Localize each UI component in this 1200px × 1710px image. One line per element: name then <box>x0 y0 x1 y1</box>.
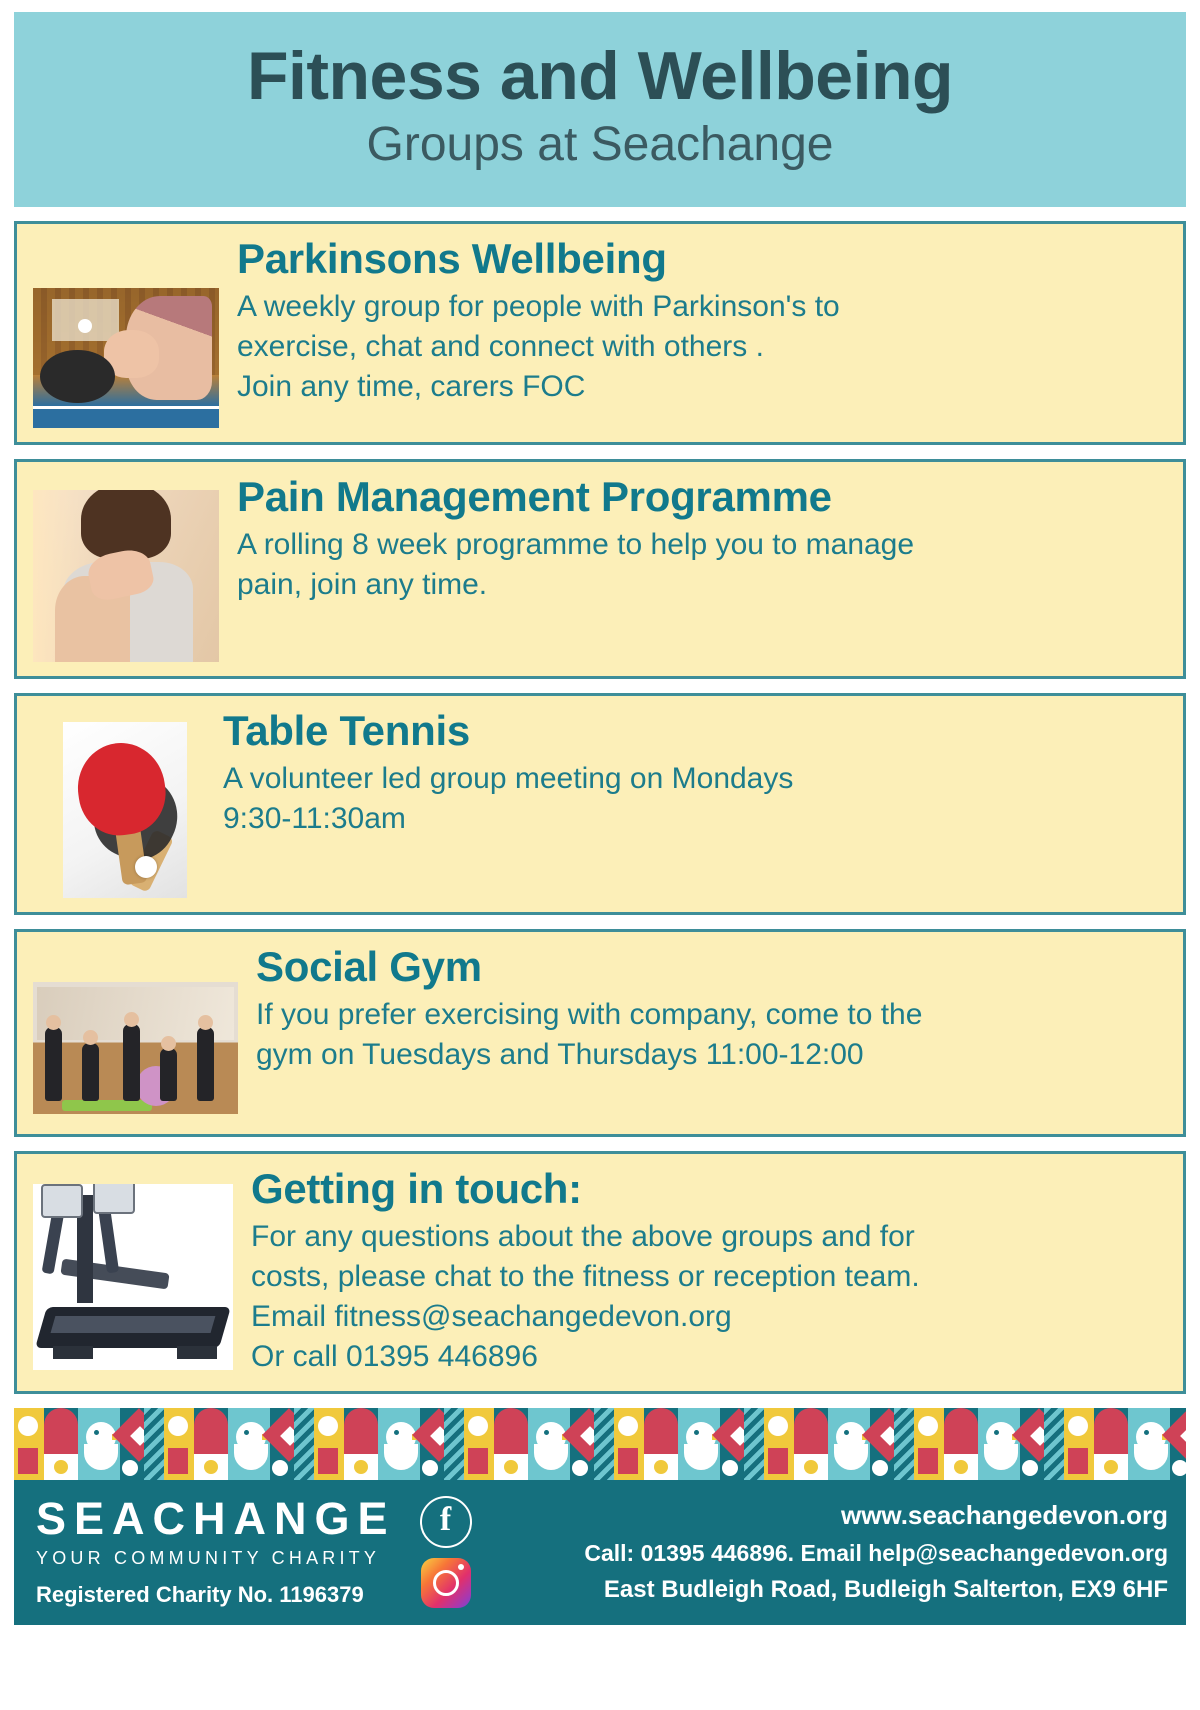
facebook-icon[interactable]: f <box>420 1496 472 1548</box>
card-text-line: Join any time, carers FOC <box>237 367 1167 407</box>
poster-footer: SEACHANGE YOUR COMMUNITY CHARITY Registe… <box>14 1480 1186 1625</box>
gym-equipment-photo <box>33 1184 233 1370</box>
neck-shoulder-pain-photo <box>33 490 219 662</box>
card-body: Parkinsons Wellbeing A weekly group for … <box>219 236 1167 407</box>
card-body: Table Tennis A volunteer led group meeti… <box>187 708 1167 839</box>
logo-wordmark: SEACHANGE <box>36 1496 396 1541</box>
card-social-gym: Social Gym If you prefer exercising with… <box>14 929 1186 1137</box>
card-text-line: pain, join any time. <box>237 565 1167 605</box>
card-media <box>33 982 238 1114</box>
pattern-tile <box>164 1408 314 1480</box>
card-text: For any questions about the above groups… <box>251 1217 1167 1377</box>
card-title: Pain Management Programme <box>237 474 1167 519</box>
card-body: Getting in touch: For any questions abou… <box>233 1166 1167 1377</box>
postal-address: East Budleigh Road, Budleigh Salterton, … <box>482 1576 1168 1604</box>
page-title: Fitness and Wellbeing <box>247 41 953 112</box>
pattern-tile <box>914 1408 1064 1480</box>
pattern-tile <box>464 1408 614 1480</box>
card-title: Getting in touch: <box>251 1166 1167 1211</box>
card-text-line: A volunteer led group meeting on Mondays <box>223 759 1167 799</box>
card-text-line: A rolling 8 week programme to help you t… <box>237 525 1167 565</box>
card-table-tennis: Table Tennis A volunteer led group meeti… <box>14 693 1186 915</box>
pattern-tile <box>1064 1408 1186 1480</box>
pattern-tile <box>14 1408 164 1480</box>
card-title: Social Gym <box>256 944 1167 989</box>
instagram-icon[interactable] <box>421 1558 471 1608</box>
card-title: Parkinsons Wellbeing <box>237 236 1167 281</box>
decorative-pattern-band <box>14 1408 1186 1480</box>
card-body: Pain Management Programme A rolling 8 we… <box>219 474 1167 605</box>
charity-number: Registered Charity No. 1196379 <box>36 1582 396 1608</box>
card-text-line-phone: Or call 01395 446896 <box>251 1337 1167 1377</box>
card-text-line: If you prefer exercising with company, c… <box>256 995 1167 1035</box>
card-text-line: 9:30-11:30am <box>223 799 1167 839</box>
pattern-tile <box>614 1408 764 1480</box>
card-text-line: costs, please chat to the fitness or rec… <box>251 1257 1167 1297</box>
page-subtitle: Groups at Seachange <box>367 117 834 172</box>
table-tennis-paddle-photo <box>63 722 187 898</box>
social-icons: f <box>410 1496 482 1608</box>
pattern-tile <box>314 1408 464 1480</box>
card-media <box>33 288 219 428</box>
card-media <box>33 490 219 662</box>
card-media <box>33 1184 233 1370</box>
card-text: If you prefer exercising with company, c… <box>256 995 1167 1075</box>
card-text: A weekly group for people with Parkinson… <box>237 287 1167 407</box>
card-media <box>63 722 187 898</box>
group-exercise-class-photo <box>33 982 238 1114</box>
card-parkinsons-wellbeing: Parkinsons Wellbeing A weekly group for … <box>14 221 1186 445</box>
card-text-line: gym on Tuesdays and Thursdays 11:00-12:0… <box>256 1035 1167 1075</box>
footer-contact-details: www.seachangedevon.org Call: 01395 44689… <box>482 1500 1172 1604</box>
card-text-line: A weekly group for people with Parkinson… <box>237 287 1167 327</box>
card-pain-management-programme: Pain Management Programme A rolling 8 we… <box>14 459 1186 679</box>
pattern-tile <box>764 1408 914 1480</box>
card-body: Social Gym If you prefer exercising with… <box>238 944 1167 1075</box>
poster-header: Fitness and Wellbeing Groups at Seachang… <box>14 12 1186 207</box>
logo-tagline: YOUR COMMUNITY CHARITY <box>36 1548 396 1569</box>
card-text-line-email: Email fitness@seachangedevon.org <box>251 1297 1167 1337</box>
card-getting-in-touch: Getting in touch: For any questions abou… <box>14 1151 1186 1394</box>
website-url[interactable]: www.seachangedevon.org <box>482 1500 1168 1531</box>
card-text-line: For any questions about the above groups… <box>251 1217 1167 1257</box>
poster: Fitness and Wellbeing Groups at Seachang… <box>0 12 1200 1710</box>
card-title: Table Tennis <box>223 708 1167 753</box>
table-tennis-player-photo <box>33 288 219 428</box>
card-text-line: exercise, chat and connect with others . <box>237 327 1167 367</box>
card-text: A rolling 8 week programme to help you t… <box>237 525 1167 605</box>
card-text: A volunteer led group meeting on Mondays… <box>223 759 1167 839</box>
seachange-logo: SEACHANGE YOUR COMMUNITY CHARITY Registe… <box>36 1496 396 1608</box>
call-and-email[interactable]: Call: 01395 446896. Email help@seachange… <box>482 1540 1168 1567</box>
